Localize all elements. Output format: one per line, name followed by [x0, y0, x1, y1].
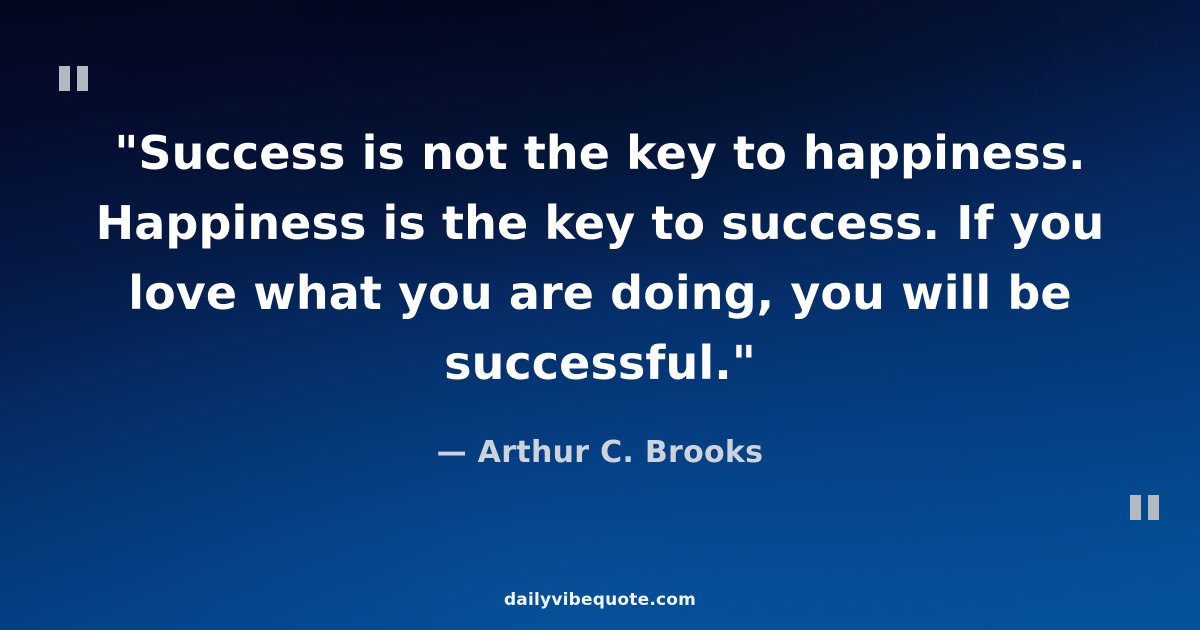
quote-mark-icon-bottom-right	[1130, 495, 1159, 520]
quote-mark-icon-top-left	[59, 66, 88, 91]
quote-card-content: "Success is not the key to happiness. Ha…	[0, 0, 1200, 630]
quote-line-2: Happiness is the key to success. If you	[60, 188, 1140, 258]
quote-line-3: love what you are doing, you will be	[60, 258, 1140, 328]
quote-mark-bar-right	[77, 66, 88, 91]
quote-attribution: — Arthur C. Brooks	[0, 432, 1200, 474]
quote-text: "Success is not the key to happiness. Ha…	[0, 118, 1200, 398]
site-watermark: dailyvibequote.com	[0, 589, 1200, 611]
quote-mark-bar-left	[59, 66, 70, 91]
quote-line-1: "Success is not the key to happiness.	[60, 118, 1140, 188]
quote-card: "Success is not the key to happiness. Ha…	[0, 0, 1200, 630]
quote-mark-bar-right	[1148, 495, 1159, 520]
quote-mark-bar-left	[1130, 495, 1141, 520]
quote-line-4: successful."	[60, 328, 1140, 398]
